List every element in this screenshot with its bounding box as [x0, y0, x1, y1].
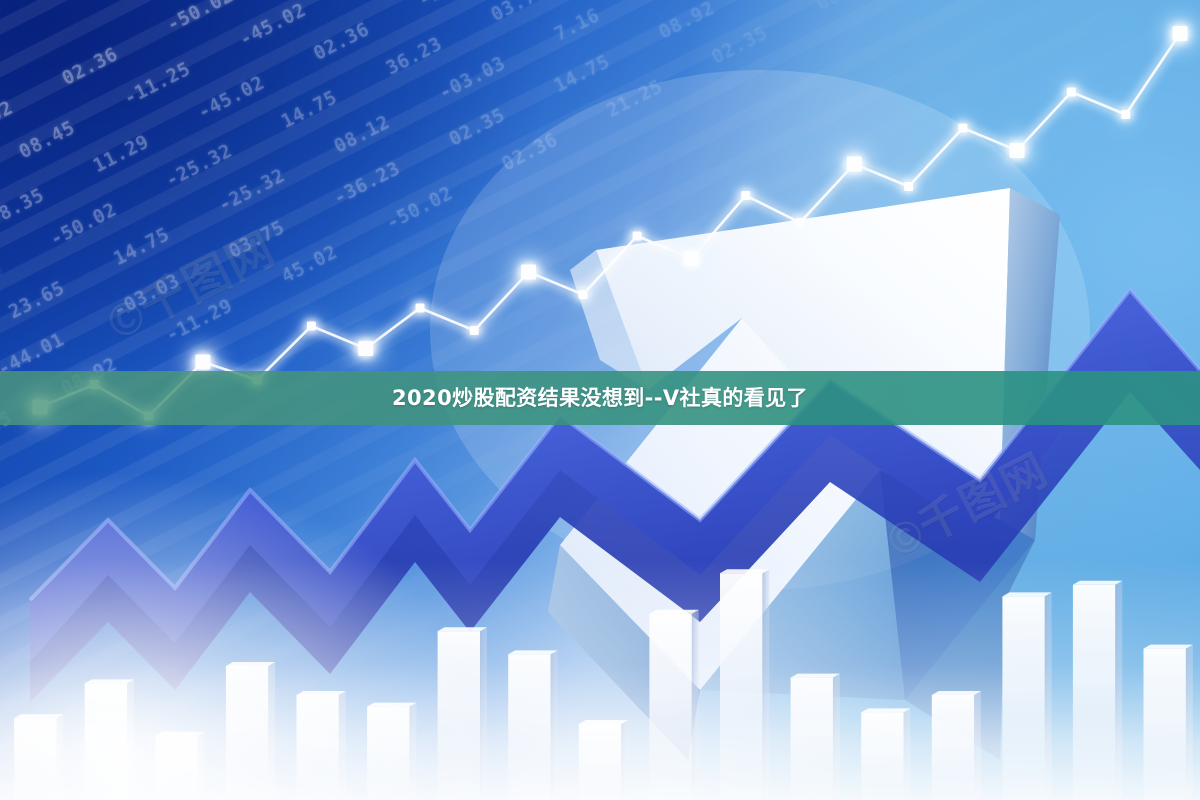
hero-image-stage: -11.25-50.0202.36-50.0221.2545.024.36-11…	[0, 0, 1200, 800]
title-banner: 2020炒股配资结果没想到--V社真的看见了	[0, 371, 1200, 425]
page-title: 2020炒股配资结果没想到--V社真的看见了	[392, 388, 808, 409]
